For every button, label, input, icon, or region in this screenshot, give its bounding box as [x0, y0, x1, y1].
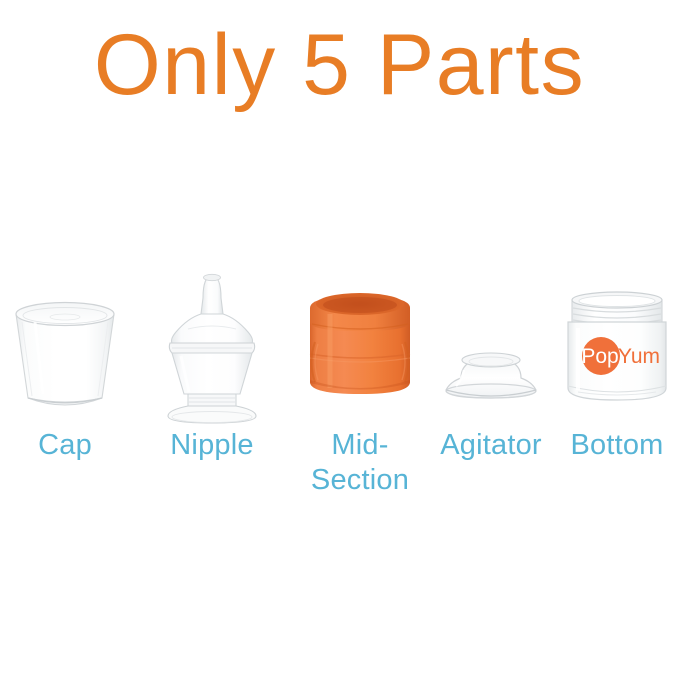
bottle-cap-icon	[2, 270, 128, 430]
label-nipple-text: Nipple	[170, 429, 253, 461]
part-labels: Cap Nipple Mid- Section Agitator Bottom	[0, 428, 679, 518]
label-cap: Cap	[2, 428, 128, 463]
bottle-mid-section-icon	[296, 270, 424, 430]
label-bottom-text: Bottom	[570, 429, 663, 461]
label-mid-section: Mid- Section	[292, 428, 428, 498]
part-bottom[interactable]: Pop Yum	[556, 270, 678, 430]
label-agitator: Agitator	[424, 428, 558, 463]
parts-row: Pop Yum	[0, 270, 679, 430]
bottle-agitator-icon	[430, 270, 552, 430]
part-cap[interactable]	[2, 270, 128, 430]
part-mid-section[interactable]	[296, 270, 424, 430]
part-agitator[interactable]	[430, 270, 552, 430]
svg-text:Pop: Pop	[581, 345, 618, 368]
label-mid-section-text: Mid-	[331, 429, 388, 461]
page-title: Only 5 Parts	[0, 18, 679, 113]
bottle-bottom-jar-icon: Pop Yum	[556, 270, 678, 430]
label-bottom: Bottom	[556, 428, 678, 463]
label-nipple: Nipple	[148, 428, 276, 463]
part-nipple[interactable]	[148, 270, 276, 430]
bottle-nipple-icon	[148, 270, 276, 430]
label-agitator-text: Agitator	[440, 429, 542, 461]
label-mid-section-text-line2: Section	[292, 463, 428, 498]
infographic-canvas: Only 5 Parts	[0, 0, 679, 679]
label-cap-text: Cap	[38, 429, 92, 461]
svg-text:Yum: Yum	[618, 345, 660, 368]
